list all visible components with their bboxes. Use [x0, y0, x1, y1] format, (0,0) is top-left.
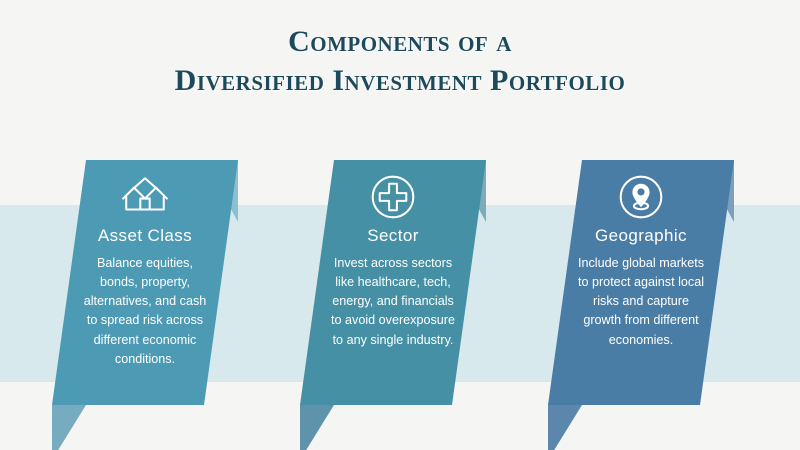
ribbon-fold-bottom [300, 405, 334, 450]
title-line-2: Diversified Investment Portfolio [0, 61, 800, 100]
panel-heading-asset-class: Asset Class [98, 226, 192, 246]
panel-heading-geographic: Geographic [595, 226, 687, 246]
infographic-canvas: Components of a Diversified Investment P… [0, 0, 800, 450]
medical-cross-circle-icon [368, 172, 418, 222]
page-title: Components of a Diversified Investment P… [0, 22, 800, 100]
house-icon [120, 172, 170, 222]
panel-body-asset-class: Balance equities, bonds, property, alter… [79, 254, 211, 369]
ribbon-panel-sector[interactable]: Sector Invest across sectors like health… [300, 160, 486, 405]
panel-body-sector: Invest across sectors like healthcare, t… [327, 254, 459, 350]
ribbon-panel-asset-class[interactable]: Asset Class Balance equities, bonds, pro… [52, 160, 238, 405]
panel-heading-sector: Sector [367, 226, 419, 246]
ribbon-fold-bottom [52, 405, 86, 450]
title-line-1: Components of a [0, 22, 800, 61]
location-pin-circle-icon [616, 172, 666, 222]
panel-content-sector: Sector Invest across sectors like health… [300, 160, 486, 405]
panel-body-geographic: Include global markets to protect agains… [575, 254, 707, 350]
panel-content-asset-class: Asset Class Balance equities, bonds, pro… [52, 160, 238, 405]
ribbon-fold-bottom [548, 405, 582, 450]
panel-content-geographic: Geographic Include global markets to pro… [548, 160, 734, 405]
ribbon-panel-geographic[interactable]: Geographic Include global markets to pro… [548, 160, 734, 405]
